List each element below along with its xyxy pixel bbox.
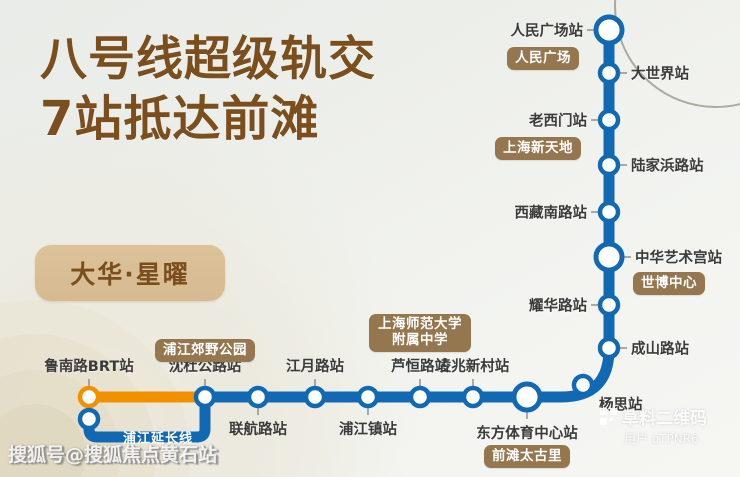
station-label-lunan-lu-brt: 鲁南路BRT站	[44, 355, 133, 376]
station-label-renmin-guangchang: 人民广场站	[511, 20, 584, 41]
poi-badge-xintiandi: 上海新天地	[495, 137, 581, 160]
station-label-xizang-nan-lu: 西藏南路站	[515, 202, 588, 223]
poi-badge-shibo-zhongxin: 世博中心	[633, 272, 705, 295]
station-dot-lingzhao-xincun	[464, 388, 482, 406]
station-dot-zhonghua-yishugong	[596, 244, 622, 270]
station-dot-lujiabang-lu	[600, 156, 618, 174]
caoliao-watermark-title: 草料二维码	[622, 404, 707, 429]
station-dot-dashijie	[600, 64, 618, 82]
station-dot-yangsi	[574, 376, 592, 394]
caoliao-watermark: 草料二维码 用户 oTPNR6	[600, 404, 730, 447]
station-dot-dongfang-tiyu	[514, 384, 540, 410]
station-dot-pujiang-zhen	[359, 388, 377, 406]
station-label-laoximen: 老西门站	[529, 110, 587, 131]
station-label-dongfang-tiyu: 东方体育中心站	[476, 422, 578, 443]
caoliao-watermark-user: 用户 oTPNR6	[600, 430, 730, 447]
station-dot-lianhang-lu	[249, 388, 267, 406]
sohu-watermark-text: 搜狐号@搜狐焦点黄石站	[8, 444, 217, 466]
station-label-jiangyue-lu: 江月路站	[286, 355, 344, 376]
poi-badge-renmin-guangchang: 人民广场	[507, 47, 579, 70]
station-label-luheng-lu: 芦恒路站	[391, 355, 449, 376]
station-dot-laoximen	[600, 111, 618, 129]
station-dot-luheng-lu	[411, 388, 429, 406]
station-dot-yaohua-lu	[600, 296, 618, 314]
station-label-lujiabang-lu: 陆家浜路站	[631, 155, 704, 176]
station-dot-shendu-gonglu	[196, 388, 214, 406]
station-label-yaohua-lu: 耀华路站	[529, 295, 587, 316]
station-label-chengshan-lu: 成山路站	[631, 338, 689, 359]
station-dot-renmin-guangchang	[596, 17, 622, 43]
station-dot-lunan-lu-brt	[80, 388, 98, 406]
caoliao-watermark-title-row: 草料二维码	[600, 404, 730, 429]
poi-badge-shida-fuzhong: 上海师范大学附属中学	[369, 314, 471, 352]
station-label-pujiang-zhen: 浦江镇站	[339, 418, 397, 439]
station-label-zhonghua-yishugong: 中华艺术宫站	[635, 247, 722, 268]
poi-badge-pujiang-jiaoye: 浦江郊野公园	[155, 339, 255, 362]
sohu-watermark: 搜狐号@搜狐焦点黄石站 搜狐号@搜狐焦点黄石站	[8, 440, 217, 467]
station-dot-jiangyue-lu	[306, 388, 324, 406]
station-dot-pujiang-branch-end	[80, 410, 98, 428]
station-dot-xizang-nan-lu	[600, 203, 618, 221]
station-label-dashijie: 大世界站	[631, 63, 689, 84]
qr-code-icon	[600, 408, 617, 425]
metro-station-dots	[80, 17, 622, 428]
poi-badge-qiantan-taikooli: 前滩太古里	[484, 445, 570, 468]
station-label-lianhang-lu: 联航路站	[229, 418, 287, 439]
metro-line-poster: 八号线超级轨交 7站抵达前滩 大华·星曜 人民广场站大世界站老西门站陆家浜路站西…	[0, 0, 740, 477]
station-dot-chengshan-lu	[600, 339, 618, 357]
